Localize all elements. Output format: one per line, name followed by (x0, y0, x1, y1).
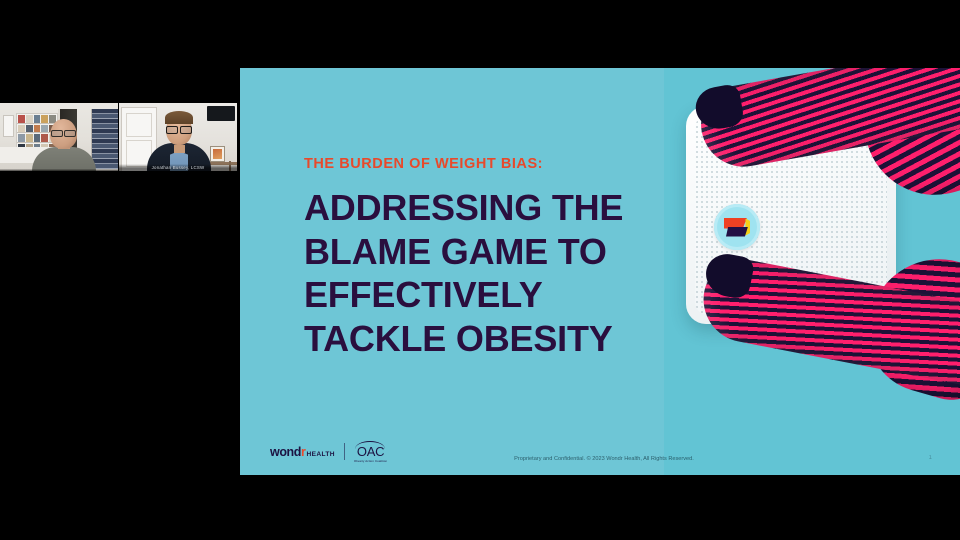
scale-brand-mark (724, 218, 750, 237)
participant-1-glasses (50, 130, 77, 136)
oac-swoosh-icon (355, 441, 385, 449)
framed-photo (210, 146, 225, 162)
oac-subtitle: Obesity Action Coalition (354, 459, 387, 463)
wall-mounted-tv (207, 106, 235, 121)
participant-tile-1[interactable] (0, 103, 118, 171)
wondr-word-start: wond (270, 445, 301, 459)
wondr-health-logo: wondr HEALTH (270, 445, 335, 459)
participant-2-neck (174, 145, 185, 153)
oac-logo: OAC Obesity Action Coalition (354, 441, 387, 464)
slide-page-number: 1 (929, 455, 932, 461)
scale-dial-badge (714, 204, 760, 250)
participant-2-hair (165, 111, 193, 124)
sock-toe-upper (693, 83, 746, 132)
participant-1-name-label (0, 169, 118, 171)
participant-tile-2[interactable]: Jonathan Bussey, LCSW (119, 103, 237, 171)
copyright-notice: Proprietary and Confidential. © 2023 Won… (498, 455, 710, 463)
slide-eyebrow: THE BURDEN OF WEIGHT BIAS: (304, 156, 674, 172)
participant-2-glasses (166, 126, 192, 132)
participant-2-video-frame (119, 103, 237, 171)
shared-slide: THE BURDEN OF WEIGHT BIAS: ADDRESSING TH… (240, 68, 960, 475)
logo-lockup: wondr HEALTH OAC Obesity Action Coalitio… (270, 441, 387, 464)
participant-1-video-frame (0, 103, 118, 171)
folded-textiles-stack (91, 109, 118, 169)
slide-footer: wondr HEALTH OAC Obesity Action Coalitio… (240, 419, 960, 475)
logo-divider (344, 443, 345, 460)
wondr-wordmark: wondr (270, 445, 306, 459)
slide-text-block: THE BURDEN OF WEIGHT BIAS: ADDRESSING TH… (304, 156, 674, 360)
screen-share-stage: Jonathan Bussey, LCSW (0, 0, 960, 540)
slide-photo-feet-on-scale (664, 68, 960, 475)
wondr-health-suffix: HEALTH (307, 451, 335, 458)
wall-picture-frame (3, 115, 14, 137)
slide-headline: ADDRESSING THE BLAME GAME TO EFFECTIVELY… (304, 186, 674, 360)
wondr-accent-letter: r (301, 445, 305, 459)
participant-video-strip: Jonathan Bussey, LCSW (0, 103, 237, 171)
participant-2-name-label: Jonathan Bussey, LCSW (119, 164, 237, 171)
